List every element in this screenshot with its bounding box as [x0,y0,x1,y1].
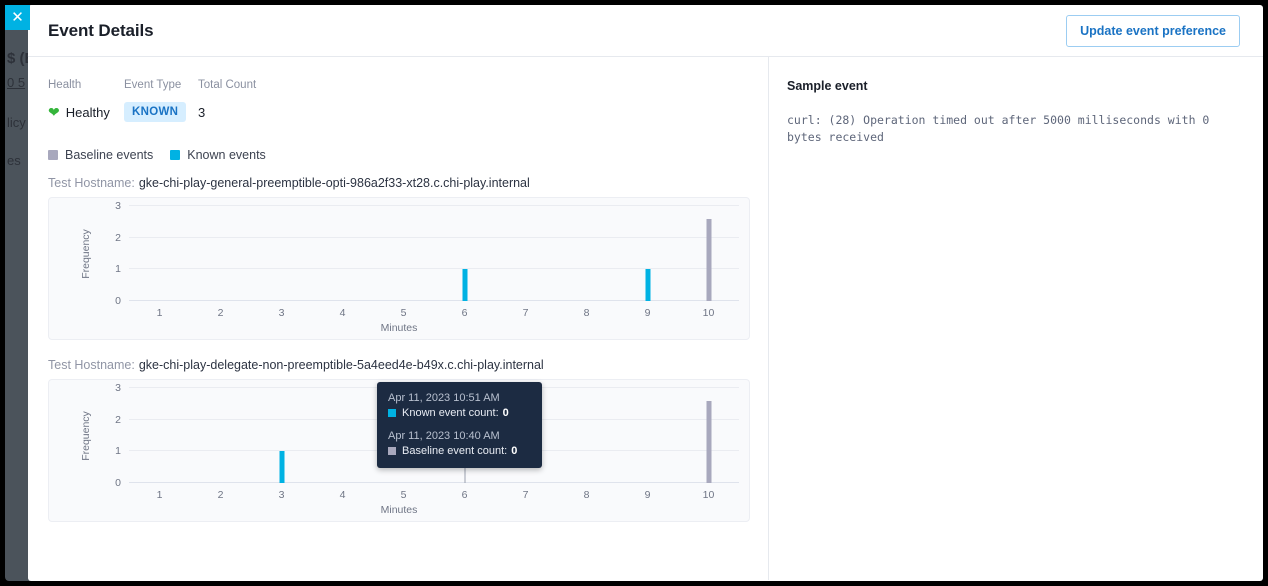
tooltip-value: 0 [511,445,517,457]
plot-area [129,206,739,301]
y-axis-tick-label: 3 [95,382,121,394]
x-axis-tick-label: 2 [218,489,224,501]
x-axis-tick-label: 2 [218,307,224,319]
health-label: Health [48,79,124,91]
x-axis-tick-label: 10 [703,489,715,501]
hostname-label: Test Hostname: [48,358,135,372]
legend-item-known[interactable]: Known events [170,148,266,162]
total-count-value: 3 [198,100,256,124]
hostname-value: gke-chi-play-delegate-non-preemptible-5a… [139,358,544,372]
x-axis-tick-label: 5 [401,307,407,319]
modal-body: Health ❤ Healthy Event Type KNOWN Tota [28,57,1263,580]
y-axis-tick-label: 3 [95,200,121,212]
chart-bar [645,269,650,301]
update-event-preference-button[interactable]: Update event preference [1066,15,1240,47]
health-value: ❤ Healthy [48,100,124,124]
y-axis-tick-label: 0 [95,295,121,307]
y-axis-tick-label: 2 [95,414,121,426]
x-axis-title: Minutes [49,322,749,334]
left-pane: Health ❤ Healthy Event Type KNOWN Tota [28,57,769,580]
hostname-line: Test Hostname:gke-chi-play-delegate-non-… [48,358,748,372]
x-axis-tick-label: 1 [157,489,163,501]
y-axis-title: Frequency [80,411,92,461]
legend-swatch-icon [48,150,58,160]
event-type-label: Event Type [124,79,198,91]
chart-bar [462,269,467,301]
y-axis: 0123 [93,388,121,483]
backdrop-fragment: es [7,153,21,168]
x-axis-tick-label: 8 [584,307,590,319]
y-axis-tick-label: 0 [95,477,121,489]
frequency-chart[interactable]: 0123Frequency12345678910MinutesApr 11, 2… [48,379,750,522]
x-axis-tick-label: 10 [703,307,715,319]
backdrop-fragment: 0 5 [7,75,25,90]
chart-tooltip: Apr 11, 2023 10:51 AMKnown event count:0… [377,382,542,468]
y-axis-title: Frequency [80,229,92,279]
x-axis: 12345678910 [129,485,739,499]
x-axis-tick-label: 7 [523,307,529,319]
y-axis-tick-label: 1 [95,263,121,275]
x-axis-tick-label: 3 [279,307,285,319]
sample-event-title: Sample event [787,79,1243,93]
y-axis-tick-label: 2 [95,232,121,244]
tooltip-row: Known event count:0 [388,407,531,419]
event-type-value: KNOWN [124,100,198,124]
x-axis-tick-label: 6 [462,307,468,319]
chart-bar [706,401,711,483]
frequency-chart[interactable]: 0123Frequency12345678910Minutes [48,197,750,340]
status-badge: KNOWN [124,102,186,122]
x-axis-tick-label: 4 [340,307,346,319]
y-axis: 0123 [93,206,121,301]
legend-label: Known events [187,148,266,162]
close-icon: ✕ [11,9,24,26]
hostname-line: Test Hostname:gke-chi-play-general-preem… [48,176,748,190]
gridline [129,205,739,206]
x-axis-tick-label: 9 [645,307,651,319]
chart-block-2: Test Hostname:gke-chi-play-delegate-non-… [48,358,748,522]
tooltip-label: Known event count: [402,407,499,419]
legend-label: Baseline events [65,148,153,162]
tooltip-swatch-icon [388,409,396,417]
chart-block-1: Test Hostname:gke-chi-play-general-preem… [48,176,748,340]
page-title: Event Details [48,21,153,41]
health-status-text: Healthy [66,105,110,120]
legend-swatch-icon [170,150,180,160]
tooltip-timestamp: Apr 11, 2023 10:40 AM [388,430,531,442]
modal-header: Event Details Update event preference [28,5,1263,57]
event-details-modal: Event Details Update event preference He… [28,5,1263,581]
hostname-value: gke-chi-play-general-preemptible-opti-98… [139,176,530,190]
chart-bar [706,219,711,301]
x-axis-tick-label: 4 [340,489,346,501]
x-axis-tick-label: 8 [584,489,590,501]
total-count-label: Total Count [198,79,256,91]
sample-event-text: curl: (28) Operation timed out after 500… [787,112,1232,145]
x-axis-tick-label: 5 [401,489,407,501]
hostname-label: Test Hostname: [48,176,135,190]
chart-legend: Baseline events Known events [48,148,748,162]
close-modal-button[interactable]: ✕ [5,5,30,30]
tooltip-timestamp: Apr 11, 2023 10:51 AM [388,392,531,404]
y-axis-tick-label: 1 [95,445,121,457]
tooltip-value: 0 [503,407,509,419]
chart-bar [279,451,284,483]
x-axis-tick-label: 1 [157,307,163,319]
tooltip-label: Baseline event count: [402,445,507,457]
event-type-field: Event Type KNOWN [124,79,198,124]
event-meta-row: Health ❤ Healthy Event Type KNOWN Tota [48,79,748,124]
right-pane: Sample event curl: (28) Operation timed … [769,57,1263,580]
x-axis-title: Minutes [49,504,749,516]
screen: $ (Ex 0 5 licy E es ✕ Event Details Upda… [0,0,1268,586]
legend-item-baseline[interactable]: Baseline events [48,148,153,162]
x-axis-tick-label: 7 [523,489,529,501]
total-count-field: Total Count 3 [198,79,256,124]
x-axis-tick-label: 9 [645,489,651,501]
tooltip-swatch-icon [388,447,396,455]
x-axis: 12345678910 [129,303,739,317]
x-axis-tick-label: 6 [462,489,468,501]
tooltip-row: Baseline event count:0 [388,445,531,457]
health-field: Health ❤ Healthy [48,79,124,124]
gridline [129,482,739,483]
gridline [129,237,739,238]
heart-icon: ❤ [48,105,60,119]
x-axis-tick-label: 3 [279,489,285,501]
